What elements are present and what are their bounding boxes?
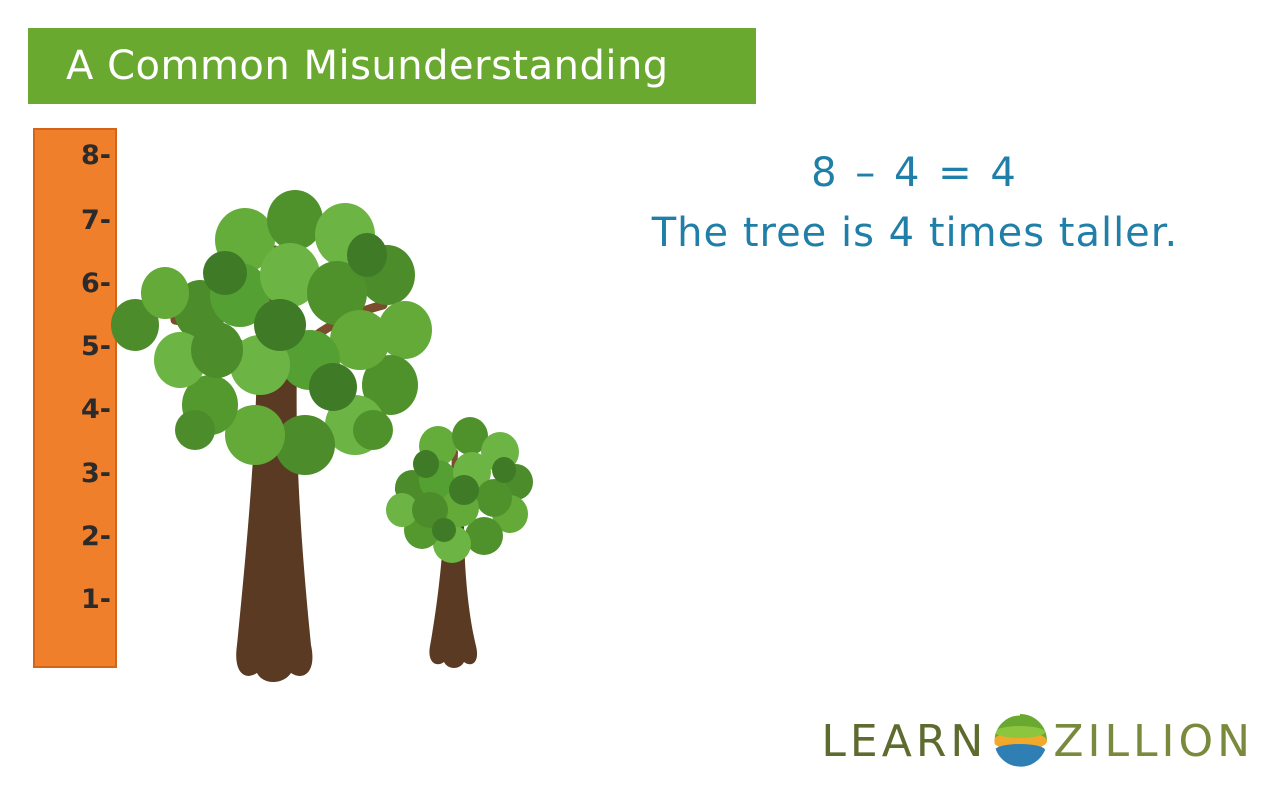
short-tree [360,378,545,678]
statement-text: The tree is 4 times taller. [570,210,1260,256]
logo-word-learn: LEARN [821,716,987,767]
equation-text: 8 – 4 = 4 [570,150,1260,196]
title-banner: A Common Misunderstanding [28,28,756,104]
page-title: A Common Misunderstanding [66,43,669,89]
learnzillion-globe-icon [991,712,1049,770]
logo-word-zillion: ZILLION [1053,716,1254,767]
explanation-block: 8 – 4 = 4 The tree is 4 times taller. [570,150,1260,256]
learnzillion-logo: LEARN ZILLION [821,710,1254,772]
